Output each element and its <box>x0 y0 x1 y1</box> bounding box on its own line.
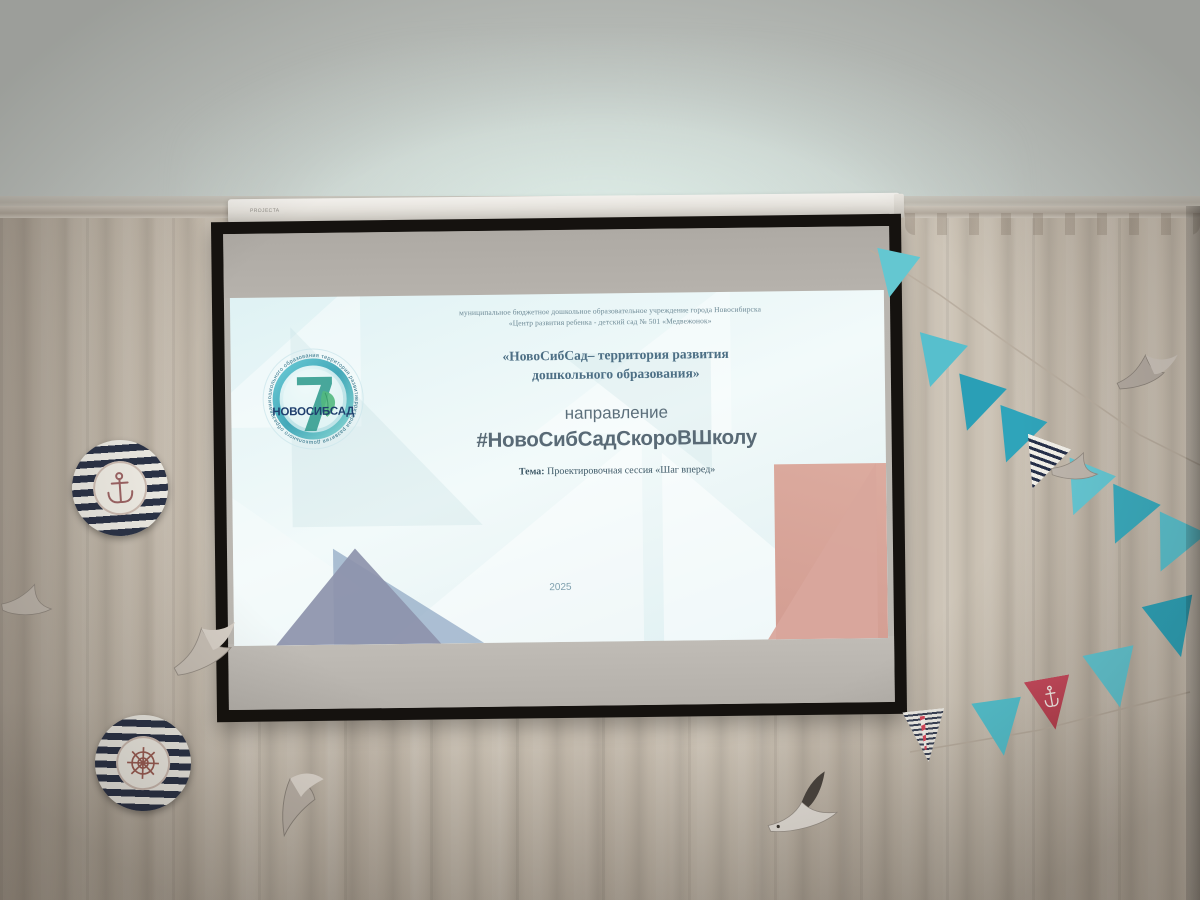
slide-theme-value: Проектировочная сессия «Шаг вперед» <box>547 464 715 477</box>
curtain-rail-hooks <box>905 213 1200 235</box>
slide-hashtag: #НовоСибСадСкороВШколу <box>362 424 872 454</box>
seagull-decoration <box>0 576 63 630</box>
logo-wordmark: НОВОСИБСАД <box>272 405 354 418</box>
seagull-decoration <box>1106 340 1187 406</box>
slide-theme-label: Тема: <box>519 466 545 477</box>
bunting-flag <box>971 697 1028 759</box>
anchor-medallion-center <box>91 459 148 516</box>
slide-triangle-blue-dark <box>275 547 441 645</box>
screen-unlit-bottom-area <box>228 636 895 710</box>
projector-screen-surface: НОВОСИБСАД дошкольного образования терри… <box>223 226 895 710</box>
screen-unlit-top-area <box>223 226 890 298</box>
projected-slide: НОВОСИБСАД дошкольного образования терри… <box>230 290 888 646</box>
ceiling <box>0 0 1200 212</box>
wall-right-edge <box>1186 206 1200 900</box>
projector-screen-frame: НОВОСИБСАД дошкольного образования терри… <box>211 214 907 722</box>
novosibsad-logo: НОВОСИБСАД дошкольного образования терри… <box>252 338 373 459</box>
slide-organization: муниципальное бюджетное дошкольное образ… <box>350 302 870 330</box>
bunting-flag <box>868 248 921 302</box>
seagull-decoration <box>755 768 847 841</box>
helm-medallion-center <box>115 735 171 791</box>
anchor-icon <box>99 467 141 509</box>
screen-brand-label: PROJECTA <box>250 208 280 214</box>
slide-title: «НовоСибСад– территория развития дошколь… <box>381 342 851 386</box>
room-photo-scene: PROJECTA <box>0 0 1200 900</box>
ship-wheel-icon <box>122 742 163 783</box>
